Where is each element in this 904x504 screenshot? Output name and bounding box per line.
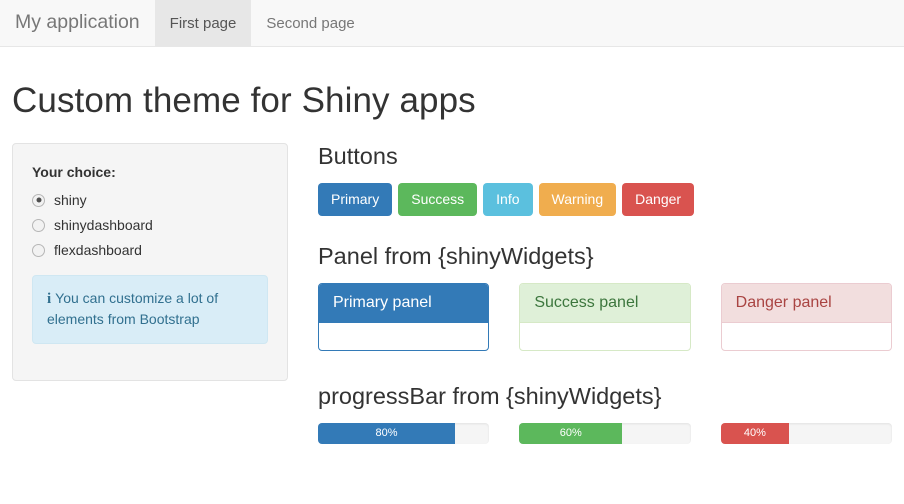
- panels-row: Primary panel Success panel Danger panel: [318, 283, 892, 350]
- button-danger[interactable]: Danger: [622, 183, 694, 217]
- tab-second-page[interactable]: Second page: [251, 0, 369, 46]
- content-row: Your choice: shiny shinydashboard flexda…: [12, 143, 892, 444]
- navbar: My application First page Second page: [0, 0, 904, 47]
- panel-primary-heading: Primary panel: [319, 284, 488, 322]
- main-column: Buttons Primary Success Info Warning Dan…: [288, 143, 892, 444]
- progress-bar-2: 60%: [519, 423, 622, 444]
- panel-danger-heading: Danger panel: [722, 284, 891, 322]
- radio-option-shiny[interactable]: shiny: [32, 191, 268, 209]
- radio-flexdashboard-label: flexdashboard: [54, 241, 142, 259]
- radio-option-shinydashboard[interactable]: shinydashboard: [32, 216, 268, 234]
- page-container: Custom theme for Shiny apps Your choice:…: [0, 82, 904, 444]
- info-icon: i: [47, 291, 51, 307]
- sidebar-column: Your choice: shiny shinydashboard flexda…: [12, 143, 288, 381]
- panel-success-heading: Success panel: [520, 284, 689, 322]
- radio-flexdashboard-icon[interactable]: [32, 244, 45, 257]
- sidebar-well: Your choice: shiny shinydashboard flexda…: [12, 143, 288, 381]
- tab-second-page-label: Second page: [266, 15, 354, 32]
- button-primary[interactable]: Primary: [318, 183, 392, 217]
- panels-heading: Panel from {shinyWidgets}: [318, 243, 892, 270]
- buttons-heading: Buttons: [318, 143, 892, 170]
- progress-track-1: 80%: [318, 423, 489, 444]
- progress-track-2: 60%: [519, 423, 690, 444]
- tab-first-page-label: First page: [170, 15, 237, 32]
- panel-danger-body: [722, 323, 891, 350]
- radio-shinydashboard-icon[interactable]: [32, 219, 45, 232]
- tab-first-page[interactable]: First page: [155, 0, 252, 46]
- button-success[interactable]: Success: [398, 183, 477, 217]
- navbar-brand[interactable]: My application: [0, 0, 155, 46]
- radio-option-flexdashboard[interactable]: flexdashboard: [32, 241, 268, 259]
- button-info[interactable]: Info: [483, 183, 532, 217]
- progress-bar-1: 80%: [318, 423, 455, 444]
- progress-row: 80% 60% 40%: [318, 423, 892, 444]
- buttons-row: Primary Success Info Warning Danger: [318, 183, 892, 217]
- button-warning[interactable]: Warning: [539, 183, 617, 217]
- progress-heading: progressBar from {shinyWidgets}: [318, 383, 892, 410]
- panel-primary-body: [319, 323, 488, 350]
- choice-group-label: Your choice:: [32, 163, 268, 183]
- info-alert: iYou can customize a lot of elements fro…: [32, 275, 268, 344]
- page-title: Custom theme for Shiny apps: [12, 82, 892, 121]
- radio-shinydashboard-label: shinydashboard: [54, 216, 153, 234]
- panel-success: Success panel: [519, 283, 690, 350]
- panel-primary: Primary panel: [318, 283, 489, 350]
- panel-danger: Danger panel: [721, 283, 892, 350]
- radio-shiny-label: shiny: [54, 191, 87, 209]
- radio-shiny-icon[interactable]: [32, 194, 45, 207]
- info-alert-text: You can customize a lot of elements from…: [47, 290, 218, 327]
- progress-track-3: 40%: [721, 423, 892, 444]
- navbar-tabs: First page Second page: [155, 0, 370, 46]
- progress-bar-3: 40%: [721, 423, 790, 444]
- panel-success-body: [520, 323, 689, 350]
